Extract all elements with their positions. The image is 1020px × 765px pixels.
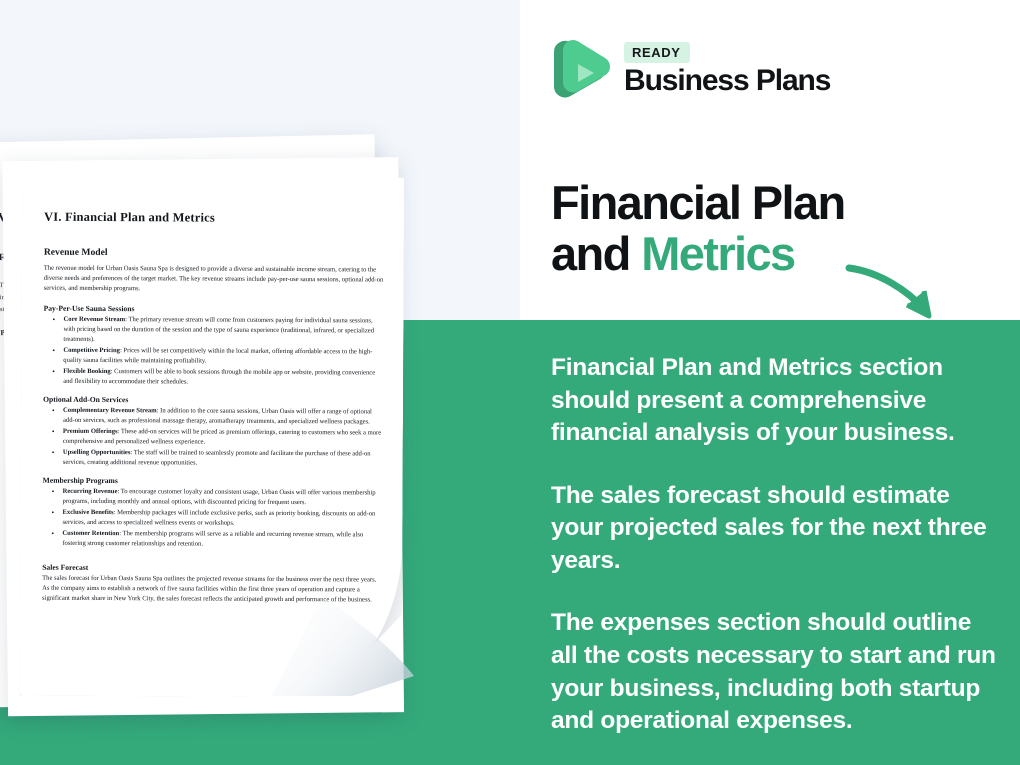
document-list-item: Competitive Pricing: Prices will be set … [43, 345, 383, 367]
list-item-term: Flexible Booking [63, 368, 110, 375]
document-list-item: Complementary Revenue Stream: In additio… [43, 405, 383, 427]
play-triangle-logo-icon [548, 36, 610, 102]
document-page-content: VI. Financial Plan and Metrics Revenue M… [20, 176, 405, 698]
document-list-item: Premium Offerings: These add-on services… [43, 427, 383, 449]
document-paragraph-sales-forecast: The sales forecast for Urban Oasis Sauna… [42, 574, 382, 606]
document-list-item: Customer Retention: The membership progr… [42, 529, 382, 551]
body-copy-block: Financial Plan and Metrics section shoul… [551, 352, 999, 738]
document-heading-revenue-model: Revenue Model [44, 247, 384, 260]
headline-line-2-accent: Metrics [641, 227, 794, 280]
list-item-term: Complementary Revenue Stream [63, 407, 157, 414]
document-subheading-optional-addon: Optional Add-On Services [43, 394, 383, 405]
document-list-item: Recurring Revenue: To encourage customer… [43, 487, 383, 509]
document-sheet-front: VI. Financial Plan and Metrics Revenue M… [20, 176, 405, 698]
headline-line-1: Financial Plan [551, 176, 845, 229]
document-list-item: Exclusive Benefits: Membership packages … [42, 508, 382, 530]
body-paragraph-3: The expenses section should outline all … [551, 607, 999, 737]
logo-wordmark-group: READY Business Plans [624, 42, 830, 96]
brand-logo: READY Business Plans [548, 36, 830, 102]
list-item-term: Recurring Revenue [63, 488, 118, 495]
document-subheading-sales-forecast: Sales Forecast [42, 563, 382, 574]
list-item-term: Premium Offerings [63, 428, 118, 435]
list-item-term: Upselling Opportunities [63, 449, 131, 456]
body-paragraph-1: Financial Plan and Metrics section shoul… [551, 352, 999, 450]
document-list-membership: Recurring Revenue: To encourage customer… [42, 487, 382, 551]
document-list-optional-addon: Complementary Revenue Stream: In additio… [43, 405, 383, 469]
document-subheading-pay-per-use: Pay-Per-Use Sauna Sessions [44, 303, 384, 314]
list-item-term: Core Revenue Stream [64, 315, 126, 322]
list-item-term: Exclusive Benefits [62, 509, 113, 516]
document-list-item: Core Revenue Stream: The primary revenue… [43, 314, 383, 346]
list-item-term: Customer Retention [62, 530, 119, 537]
headline-line-2-prefix: and [551, 227, 641, 280]
ready-badge: READY [624, 42, 690, 63]
document-paragraph-revenue-model: The revenue model for Urban Oasis Sauna … [44, 264, 384, 296]
list-item-text: : Customers will be able to book session… [63, 368, 375, 385]
document-title: VI. Financial Plan and Metrics [44, 210, 384, 227]
document-list-item: Flexible Booking: Customers will be able… [43, 366, 383, 388]
body-paragraph-2: The sales forecast should estimate your … [551, 480, 999, 578]
slide-canvas: V Re The inc stre Pay Op M S VI. Financi… [0, 0, 1020, 765]
document-subheading-membership: Membership Programs [43, 476, 383, 487]
document-list-pay-per-use: Core Revenue Stream: The primary revenue… [43, 314, 383, 388]
document-list-item: Upselling Opportunities: The staff will … [43, 448, 383, 470]
brand-wordmark: Business Plans [624, 66, 830, 96]
list-item-term: Competitive Pricing [63, 347, 120, 354]
curved-arrow-down-right-icon [845, 258, 955, 328]
